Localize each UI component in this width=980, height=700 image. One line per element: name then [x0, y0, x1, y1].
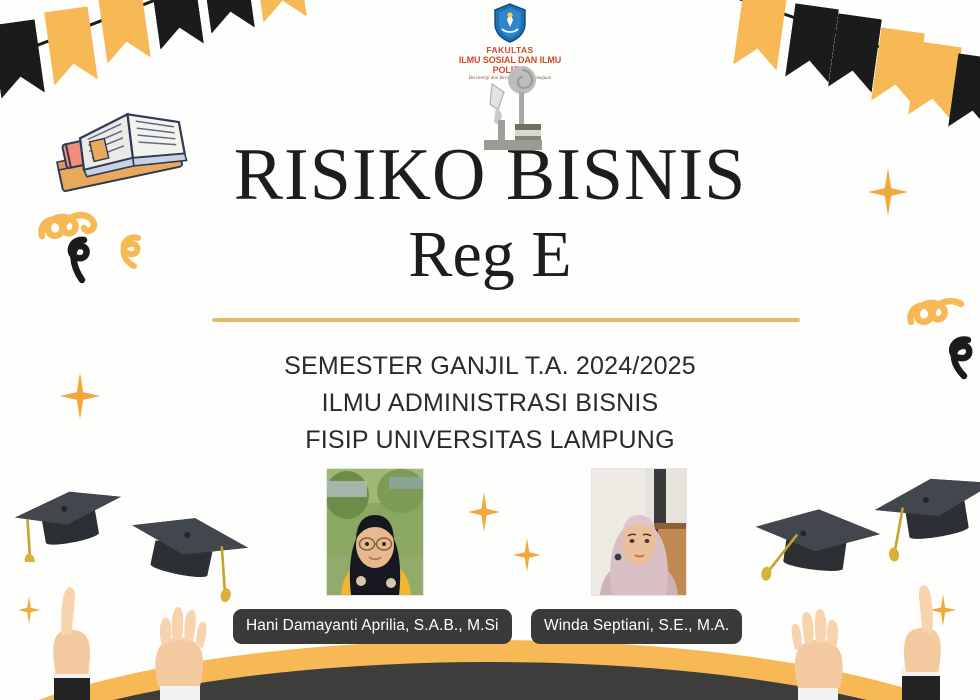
presentation-slide: FAKULTAS ILMU SOSIAL DAN ILMU POLITIK Be…	[0, 0, 980, 700]
portrait-photo-hani	[326, 468, 424, 596]
page-title: RISIKO BISNIS	[0, 140, 980, 211]
bunting-left	[0, 0, 320, 120]
faculty-logo: FAKULTAS ILMU SOSIAL DAN ILMU POLITIK Be…	[450, 2, 570, 81]
meta-institution: FISIP UNIVERSITAS LAMPUNG	[0, 422, 980, 459]
bunting-right	[700, 0, 980, 126]
university-crest-icon	[489, 2, 531, 44]
sparkle-star-icon	[513, 538, 541, 572]
sparkle-star-icon	[468, 492, 500, 532]
graduation-cap-icon	[742, 468, 902, 598]
logo-tagline: Bersinergi dan Bersama untuk Kemajuan	[450, 76, 570, 81]
course-meta: SEMESTER GANJIL T.A. 2024/2025 ILMU ADMI…	[0, 348, 980, 458]
title-divider	[212, 318, 800, 322]
sparkle-star-icon	[18, 596, 40, 624]
page-subtitle: Reg E	[0, 222, 980, 288]
meta-semester: SEMESTER GANJIL T.A. 2024/2025	[0, 348, 980, 385]
logo-faculty-name: ILMU SOSIAL DAN ILMU POLITIK	[450, 55, 570, 75]
lecturer-name-pill: Winda Septiani, S.E., M.A.	[531, 609, 742, 644]
graduation-cap-icon	[112, 480, 272, 605]
raised-hand-graphic	[884, 574, 956, 700]
meta-program: ILMU ADMINISTRASI BISNIS	[0, 385, 980, 422]
portrait-photo-winda	[591, 468, 687, 596]
graduation-cap-icon	[858, 444, 980, 564]
lecturer-name-pill: Hani Damayanti Aprilia, S.A.B., M.Si	[233, 609, 512, 644]
sparkle-star-icon	[930, 594, 956, 626]
graduation-cap-icon	[0, 452, 144, 562]
logo-faculty-label: FAKULTAS	[450, 45, 570, 55]
